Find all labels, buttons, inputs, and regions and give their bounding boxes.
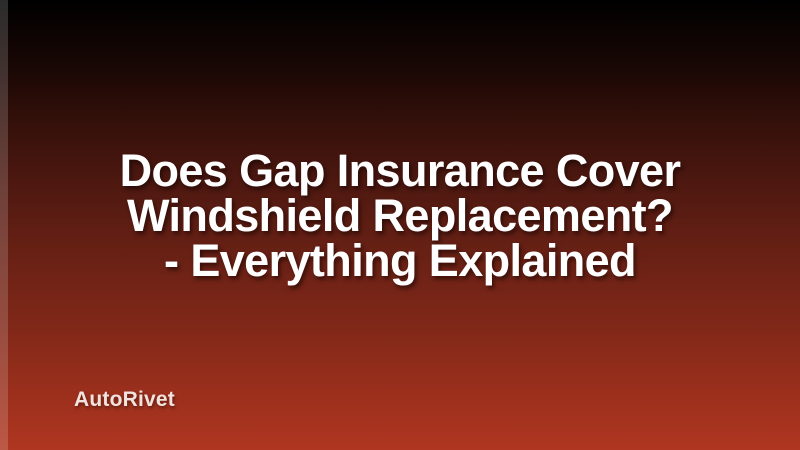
title-line-3: - Everything Explained <box>40 238 760 283</box>
title-line-1: Does Gap Insurance Cover <box>40 148 760 193</box>
brand-logotype: AutoRivet <box>74 389 175 410</box>
title-line-2: Windshield Replacement? <box>40 193 760 238</box>
thumbnail-canvas: Does Gap Insurance Cover Windshield Repl… <box>0 0 800 450</box>
page-title: Does Gap Insurance Cover Windshield Repl… <box>0 148 800 283</box>
